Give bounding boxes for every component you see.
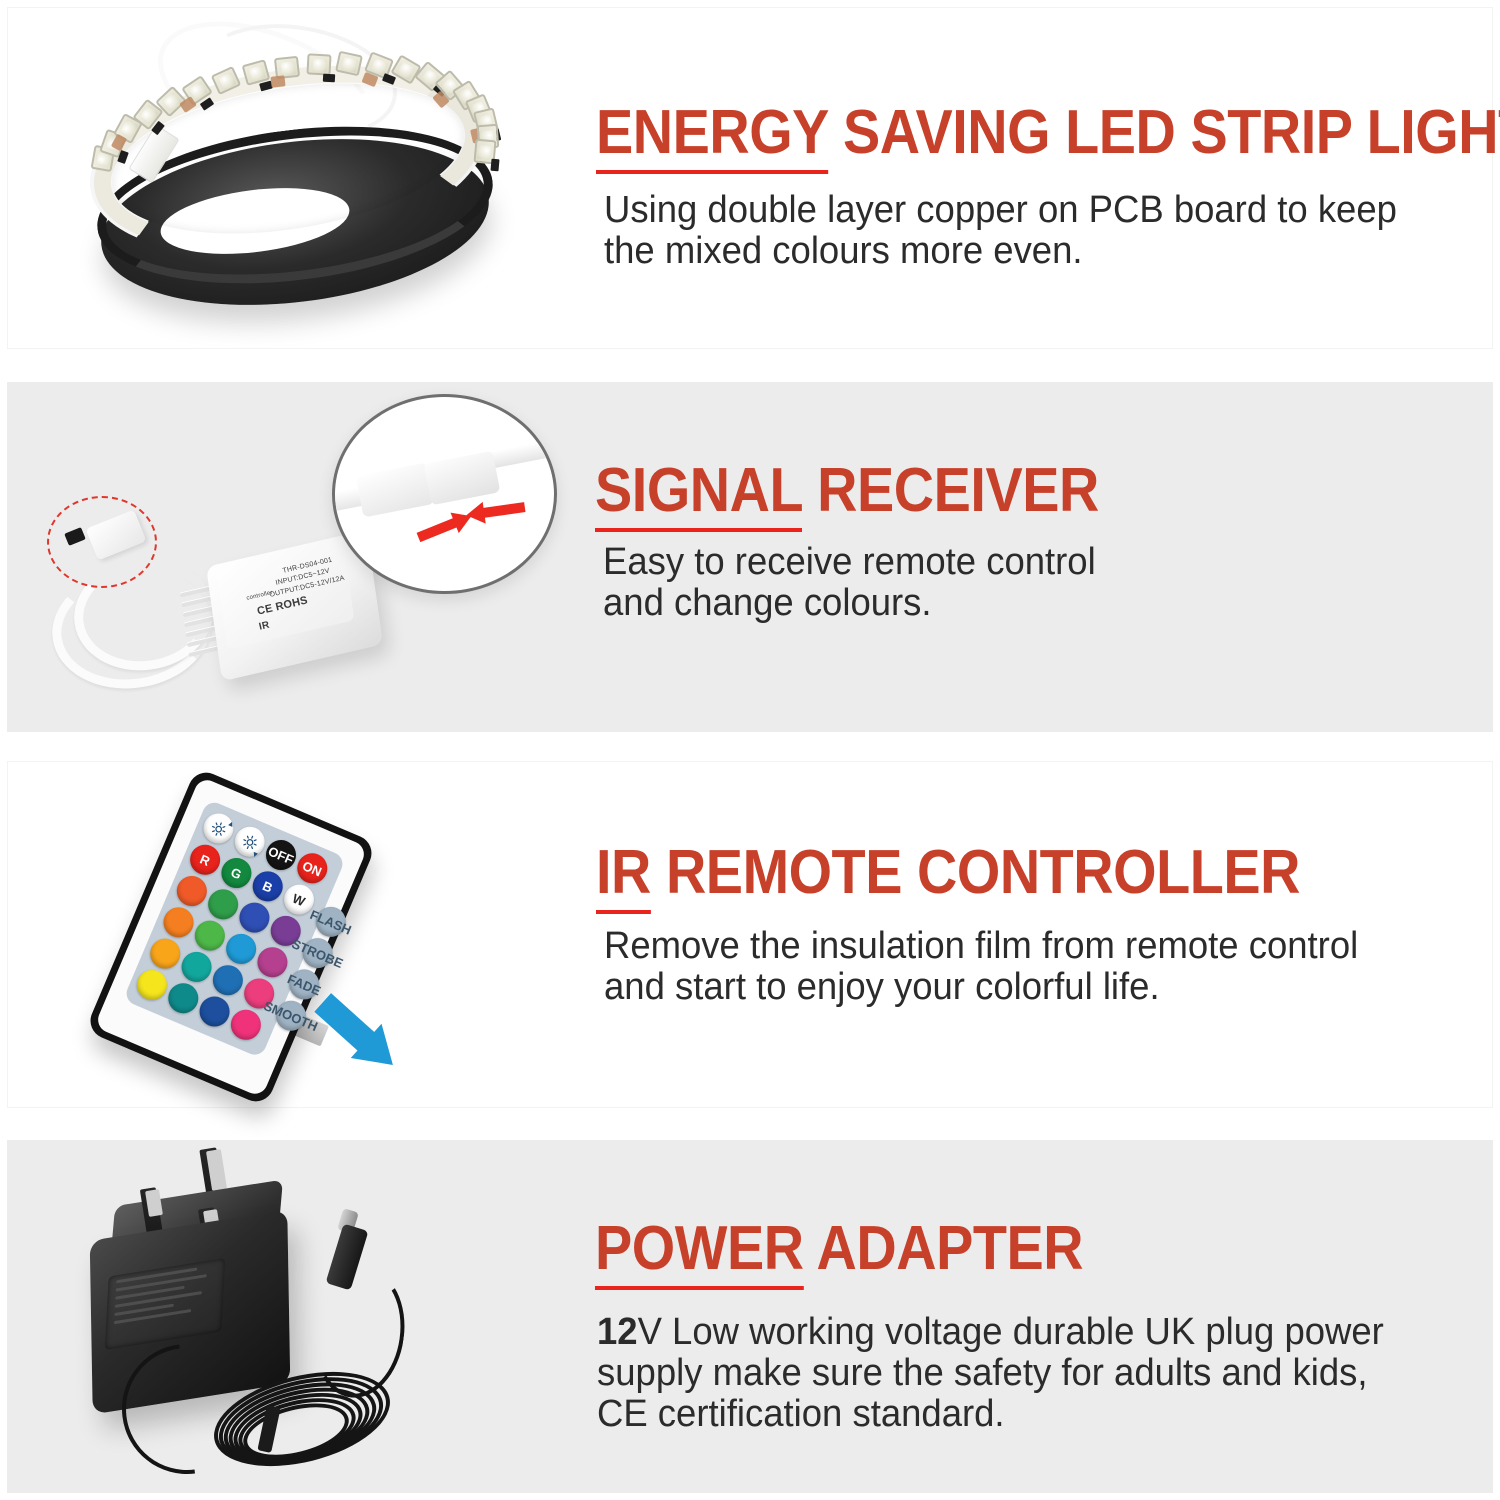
heading-3: IR REMOTE CONTROLLER bbox=[596, 842, 1300, 904]
pull-film-arrow-icon bbox=[314, 993, 375, 1052]
body-4: 12V Low working voltage durable UK plug … bbox=[597, 1312, 1384, 1435]
product-infographic: ENERGY SAVING LED STRIP LIGHT Using doub… bbox=[0, 0, 1500, 1500]
flash-button[interactable]: FLASH bbox=[311, 902, 350, 941]
power-adapter-image bbox=[7, 1140, 567, 1493]
heading-3-underlined: IR bbox=[596, 838, 651, 914]
body-4-rest: V Low working voltage durable UK plug po… bbox=[597, 1311, 1384, 1435]
detail-arrow-left-icon bbox=[483, 502, 526, 518]
controller-ir-label: IR bbox=[258, 620, 271, 633]
heading-1: ENERGY SAVING LED STRIP LIGHT bbox=[596, 102, 1500, 164]
body-3: Remove the insulation film from remote c… bbox=[604, 926, 1358, 1008]
remote-body-icon: ▴▾OFFONRGBWFLASHSTROBEFADESMOOTH bbox=[85, 767, 377, 1107]
body-4-lead: 12 bbox=[597, 1311, 638, 1353]
section-ir-remote-controller: ▴▾OFFONRGBWFLASHSTROBEFADESMOOTH IR REMO… bbox=[7, 761, 1493, 1108]
highlight-dashed-circle bbox=[47, 496, 157, 588]
smooth-button[interactable]: SMOOTH bbox=[271, 996, 310, 1035]
resistor-icon bbox=[322, 73, 334, 82]
heading-4-underlined: POWER bbox=[595, 1214, 804, 1290]
heading-3-rest: REMOTE CONTROLLER bbox=[666, 838, 1300, 907]
section-energy-saving-led-strip-light: ENERGY SAVING LED STRIP LIGHT Using doub… bbox=[7, 7, 1493, 349]
remote-face: ▴▾OFFONRGBWFLASHSTROBEFADESMOOTH bbox=[94, 776, 368, 1097]
uk-plug-pin-live-tip bbox=[145, 1189, 163, 1217]
copy-block-3: IR REMOTE CONTROLLER Remove the insulati… bbox=[568, 762, 1492, 1107]
heading-1-underlined: ENERGY bbox=[596, 98, 828, 174]
copy-block-4: POWER ADAPTER 12V Low working voltage du… bbox=[567, 1140, 1493, 1493]
resistor-icon bbox=[491, 159, 500, 172]
led-chip-icon bbox=[306, 53, 331, 75]
heading-2-underlined: SIGNAL bbox=[595, 456, 802, 532]
section-signal-receiver: THR-DS04-001 INPUT:DC5~12V OUTPUT:DC5-12… bbox=[7, 382, 1493, 732]
body-2: Easy to receive remote control and chang… bbox=[603, 542, 1096, 624]
led-strip-reel-image bbox=[8, 8, 568, 348]
heading-2-rest: RECEIVER bbox=[817, 456, 1099, 525]
detail-connector-right-icon bbox=[424, 451, 501, 506]
heading-4-rest: ADAPTER bbox=[817, 1214, 1084, 1283]
copy-block-2: SIGNAL RECEIVER Easy to receive remote c… bbox=[567, 382, 1493, 732]
heading-1-rest: SAVING LED STRIP LIGHT bbox=[843, 98, 1500, 167]
copper-pad-icon bbox=[271, 75, 286, 87]
copy-block-1: ENERGY SAVING LED STRIP LIGHT Using doub… bbox=[568, 8, 1492, 348]
heading-2: SIGNAL RECEIVER bbox=[595, 460, 1099, 522]
signal-receiver-image: THR-DS04-001 INPUT:DC5~12V OUTPUT:DC5-12… bbox=[7, 382, 567, 732]
section-power-adapter: POWER ADAPTER 12V Low working voltage du… bbox=[7, 1140, 1493, 1493]
fade-button[interactable]: FADE bbox=[285, 965, 324, 1004]
heading-4: POWER ADAPTER bbox=[595, 1218, 1083, 1280]
detail-arrow-right-icon bbox=[417, 518, 458, 542]
ir-remote-image: ▴▾OFFONRGBWFLASHSTROBEFADESMOOTH bbox=[8, 762, 568, 1107]
detail-connector-left-icon bbox=[356, 463, 435, 518]
body-1: Using double layer copper on PCB board t… bbox=[604, 190, 1397, 272]
zoom-detail-circle bbox=[332, 394, 557, 594]
strobe-button[interactable]: STROBE bbox=[298, 933, 337, 972]
